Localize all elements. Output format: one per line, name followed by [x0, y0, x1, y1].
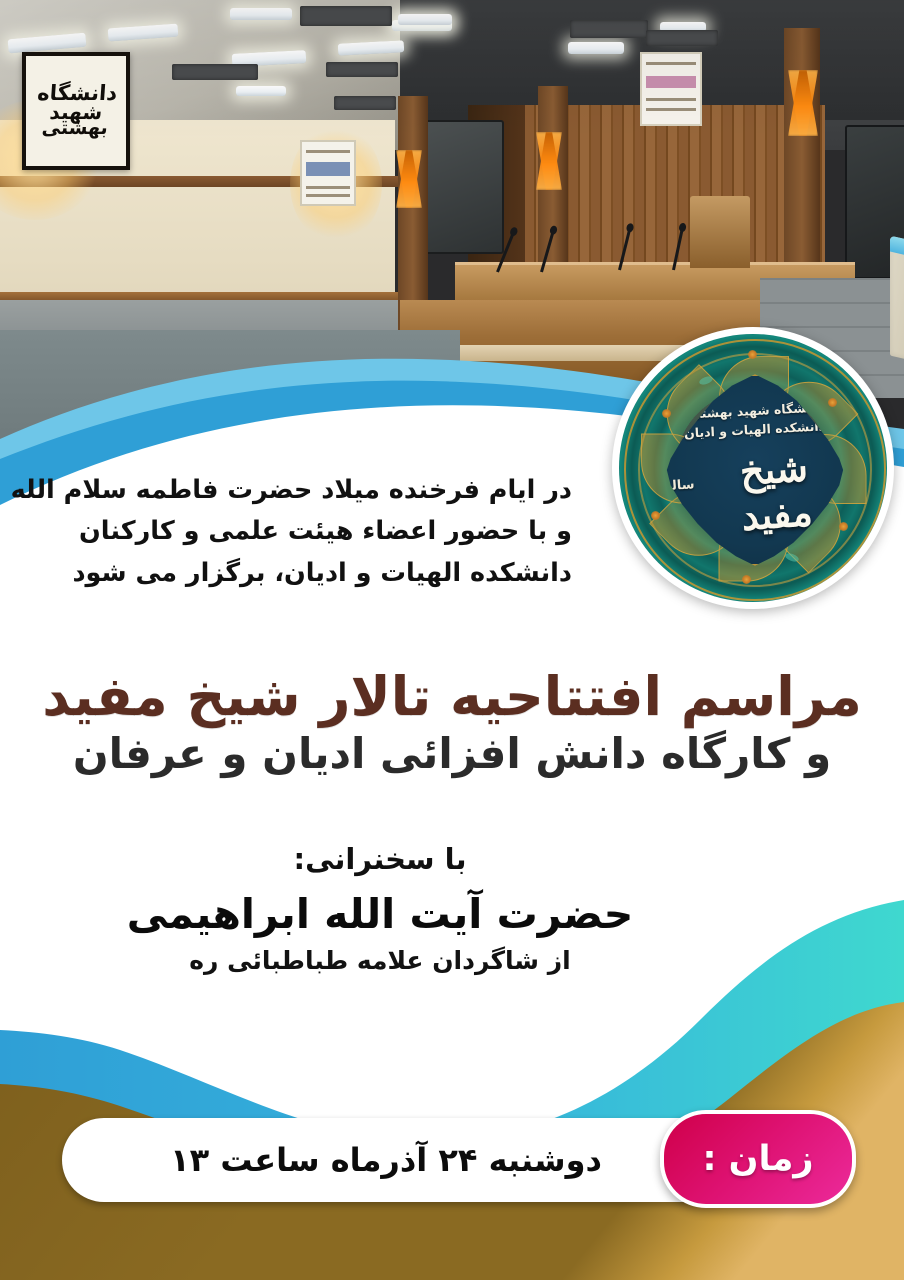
ceiling-light [398, 14, 452, 25]
university-logo: دانشگاه شهید بهشتی [22, 52, 130, 170]
bottom-wave-svg [0, 880, 904, 1280]
ceiling-light [236, 86, 286, 96]
event-date-text: دوشنبه ۲۴ آذرماه ساعت ۱۳ [170, 1141, 642, 1179]
shiekh-mofid-hall-medallion: دانشگاه شهید بهشتی دانشکده الهیات و ادیا… [612, 327, 894, 609]
medallion-flower [651, 511, 660, 520]
ceiling-vent [646, 30, 718, 46]
podium [690, 196, 750, 268]
intro-line-3: دانشکده الهیات و ادیان، برگزار می شود [0, 553, 572, 594]
speaker-label: با سخنرانی: [0, 842, 760, 876]
auditorium-seat [890, 236, 904, 369]
medallion-flower [748, 350, 757, 359]
standing-notice-board [300, 140, 356, 206]
logo-line-3: بهشتی [41, 121, 108, 137]
time-label-text: زمان : [703, 1139, 814, 1179]
ceiling-vent [334, 96, 396, 110]
intro-line-1: در ایام فرخنده میلاد حضرت فاطمه سلام الل… [0, 470, 572, 511]
ceiling-vent [300, 6, 392, 26]
bottom-wave-decoration [0, 880, 904, 1280]
time-label-badge: زمان : [660, 1110, 856, 1208]
intro-line-2: و با حضور اعضاء هیئت علمی و کارکنان [0, 511, 572, 552]
ceiling-vent [172, 64, 258, 80]
ceiling-vent [570, 20, 648, 38]
event-title: مراسم افتتاحیه تالار شیخ مفید و کارگاه د… [0, 668, 904, 777]
ceiling-vent [326, 62, 398, 77]
medallion-flower [662, 409, 671, 418]
event-title-line-1: مراسم افتتاحیه تالار شیخ مفید [0, 668, 904, 726]
medallion-flower [839, 522, 848, 531]
event-poster: دانشگاه شهید بهشتی [0, 0, 904, 1280]
wall-notice-frame [640, 52, 702, 126]
ceiling-light [568, 42, 624, 54]
event-title-line-2: و کارگاه دانش افزائی ادیان و عرفان [0, 730, 904, 777]
intro-paragraph: در ایام فرخنده میلاد حضرت فاطمه سلام الل… [0, 470, 600, 594]
ceiling-light [230, 8, 292, 20]
date-bar: دوشنبه ۲۴ آذرماه ساعت ۱۳ [62, 1118, 750, 1202]
